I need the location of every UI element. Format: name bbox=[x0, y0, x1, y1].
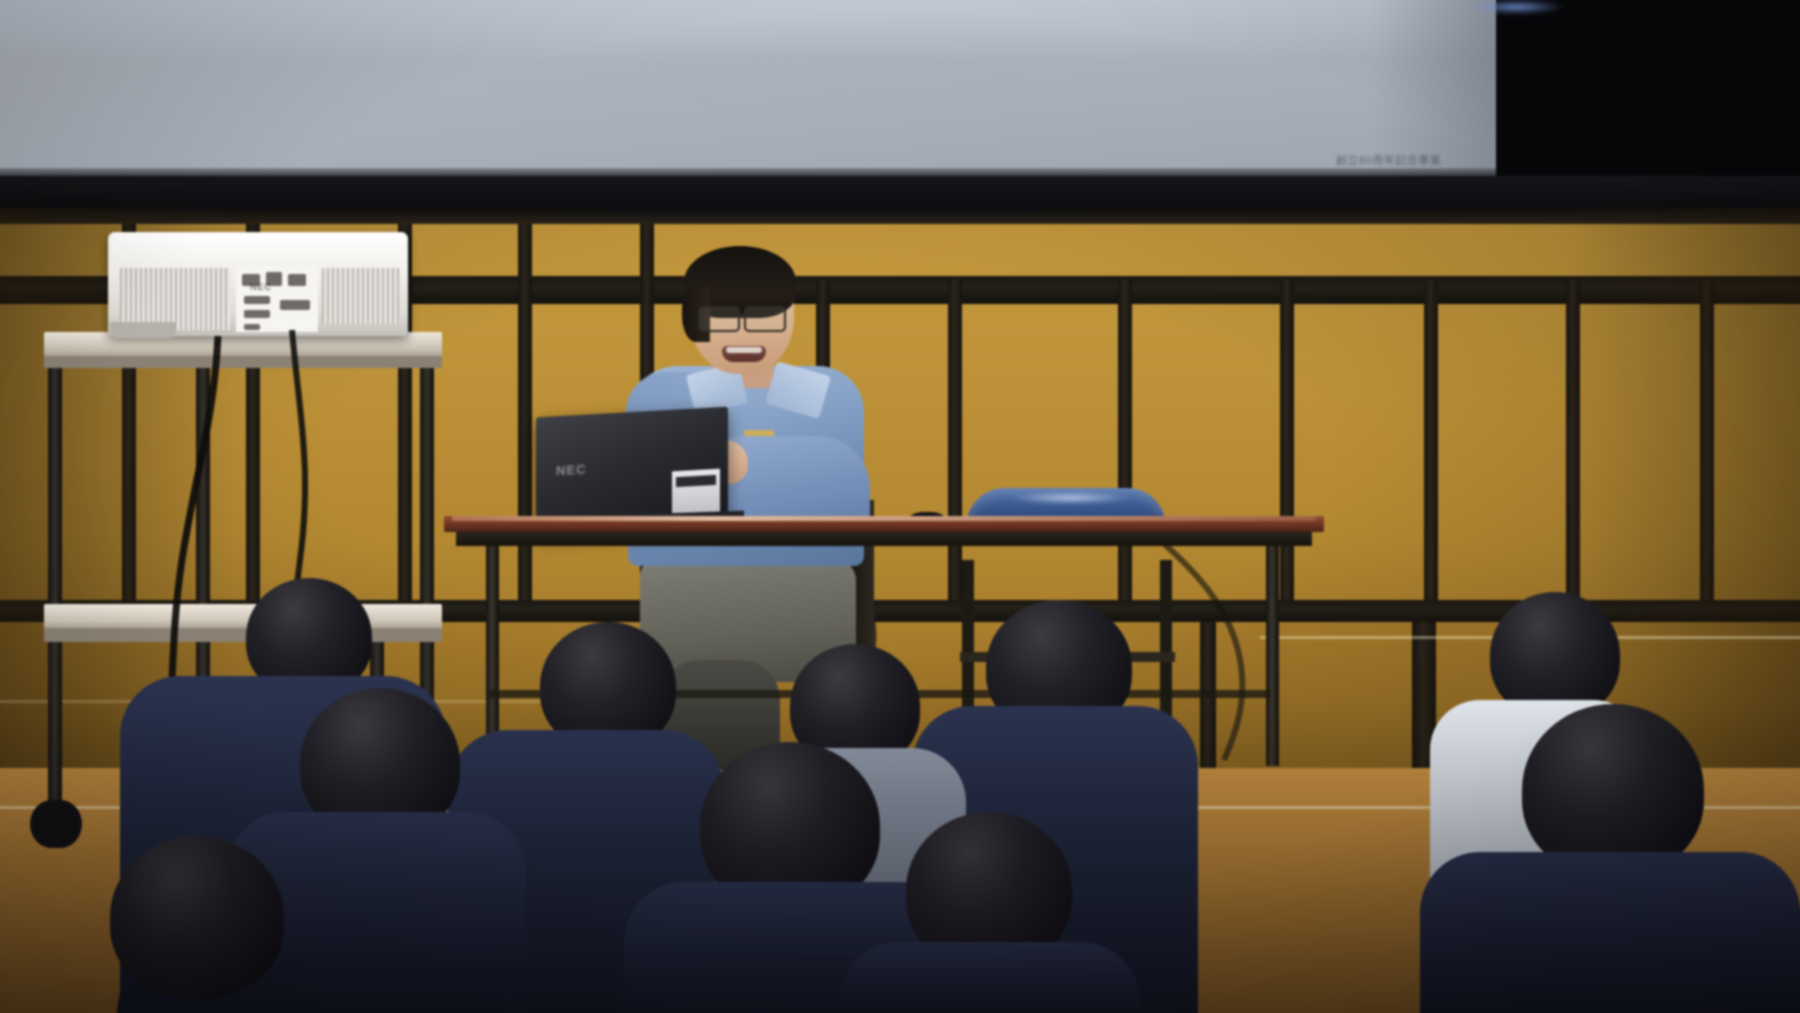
photo-softness-layer bbox=[0, 0, 1800, 1013]
photo-scene: 創立60周年記念事業 NEC bbox=[0, 0, 1800, 1013]
